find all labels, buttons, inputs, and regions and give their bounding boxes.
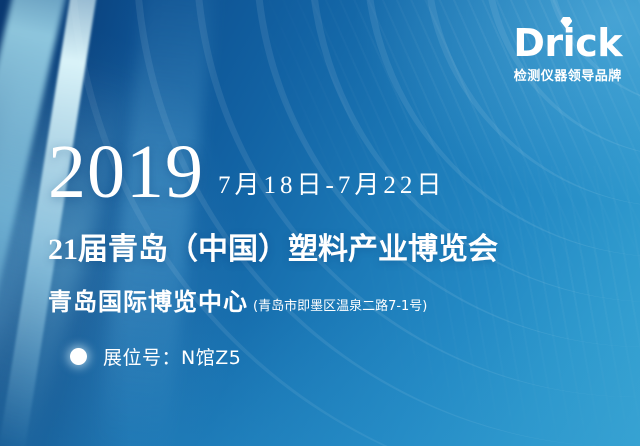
event-year: 2019 bbox=[48, 136, 204, 208]
event-title: 21届青岛（中国）塑料产业博览会 bbox=[48, 224, 498, 268]
event-address: (青岛市即墨区温泉二路7-1号) bbox=[253, 295, 427, 314]
event-venue: 青岛国际博览中心 bbox=[48, 282, 248, 317]
exhibition-banner: Drick 检测仪器领导品牌 2019 7月18日-7月22日 21届青岛（中国… bbox=[0, 0, 640, 446]
event-dates: 7月18日-7月22日 bbox=[218, 165, 445, 201]
bullet-icon bbox=[70, 348, 87, 365]
year-date-line: 2019 7月18日-7月22日 bbox=[48, 136, 498, 208]
brand-name: Drick bbox=[513, 21, 622, 65]
booth-line: 展位号：N馆Z5 bbox=[48, 343, 498, 370]
brand-tagline: 检测仪器领导品牌 bbox=[513, 65, 622, 84]
venue-line: 青岛国际博览中心 (青岛市即墨区温泉二路7-1号) bbox=[48, 282, 498, 317]
brand-logo: Drick 检测仪器领导品牌 bbox=[513, 24, 622, 84]
event-copy-block: 2019 7月18日-7月22日 21届青岛（中国）塑料产业博览会 青岛国际博览… bbox=[48, 136, 498, 370]
booth-number: 展位号：N馆Z5 bbox=[103, 343, 241, 370]
brand-wordmark: Drick bbox=[513, 24, 622, 62]
